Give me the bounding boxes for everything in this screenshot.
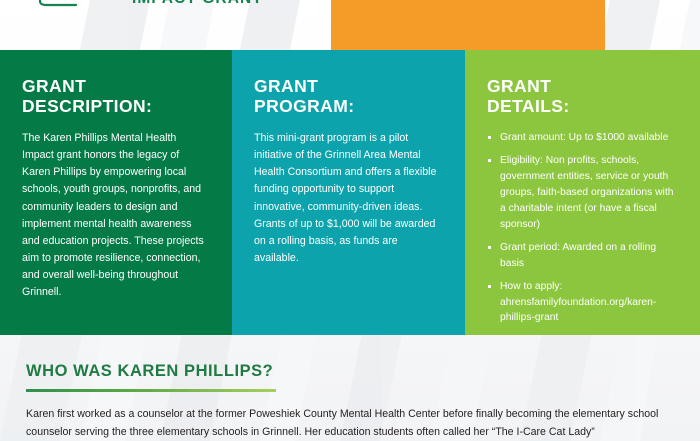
grant-details-list: Grant amount: Up to $1000 available Elig… — [487, 130, 678, 326]
list-item-text: Grant period: Awarded on a rolling basis — [500, 242, 656, 269]
section-divider — [26, 389, 276, 392]
bullet-dot-icon — [488, 159, 491, 162]
column-body-grant-program: This mini-grant program is a pilot initi… — [254, 130, 443, 267]
column-grant-description: GRANT DESCRIPTION: The Karen Phillips Me… — [0, 50, 232, 335]
header-band: IMPACT GRANT Apply Today — [0, 0, 700, 50]
column-title-grant-program: GRANT PROGRAM: — [254, 76, 443, 117]
column-title-grant-details: GRANT DETAILS: — [487, 76, 678, 117]
column-body-grant-description: The Karen Phillips Mental Health Impact … — [22, 130, 210, 302]
bullet-dot-icon — [488, 285, 491, 288]
book-lines-logo-icon — [36, 0, 80, 14]
column-grant-details: GRANT DETAILS: Grant amount: Up to $1000… — [465, 50, 700, 335]
brand-lockup: IMPACT GRANT — [36, 0, 263, 14]
bullet-dot-icon — [488, 246, 491, 249]
list-item: Grant period: Awarded on a rolling basis — [487, 240, 678, 272]
section-body-text: Karen first worked as a counselor at the… — [26, 405, 680, 441]
list-item[interactable]: How to apply: ahrensfamilyfoundation.org… — [487, 279, 678, 327]
section-heading: WHO WAS KAREN PHILLIPS? — [26, 363, 273, 380]
info-columns: GRANT DESCRIPTION: The Karen Phillips Me… — [0, 50, 700, 335]
who-was-karen-phillips-section: WHO WAS KAREN PHILLIPS? Karen first work… — [0, 335, 700, 441]
column-grant-program: GRANT PROGRAM: This mini-grant program i… — [232, 50, 465, 335]
list-item-text: Grant amount: Up to $1000 available — [500, 132, 668, 143]
column-title-grant-description: GRANT DESCRIPTION: — [22, 76, 210, 117]
list-item: Grant amount: Up to $1000 available — [487, 130, 678, 146]
logo-wordmark: IMPACT GRANT — [132, 0, 263, 7]
flyer-page: IMPACT GRANT Apply Today GRANT DESCRIPTI… — [0, 0, 700, 441]
list-item-text: Eligibility: Non profits, schools, gover… — [500, 155, 673, 230]
list-item-text-apply-link[interactable]: How to apply: ahrensfamilyfoundation.org… — [500, 281, 656, 324]
bullet-dot-icon — [488, 136, 491, 139]
apply-today-badge[interactable]: Apply Today — [331, 0, 605, 50]
list-item: Eligibility: Non profits, schools, gover… — [487, 153, 678, 233]
